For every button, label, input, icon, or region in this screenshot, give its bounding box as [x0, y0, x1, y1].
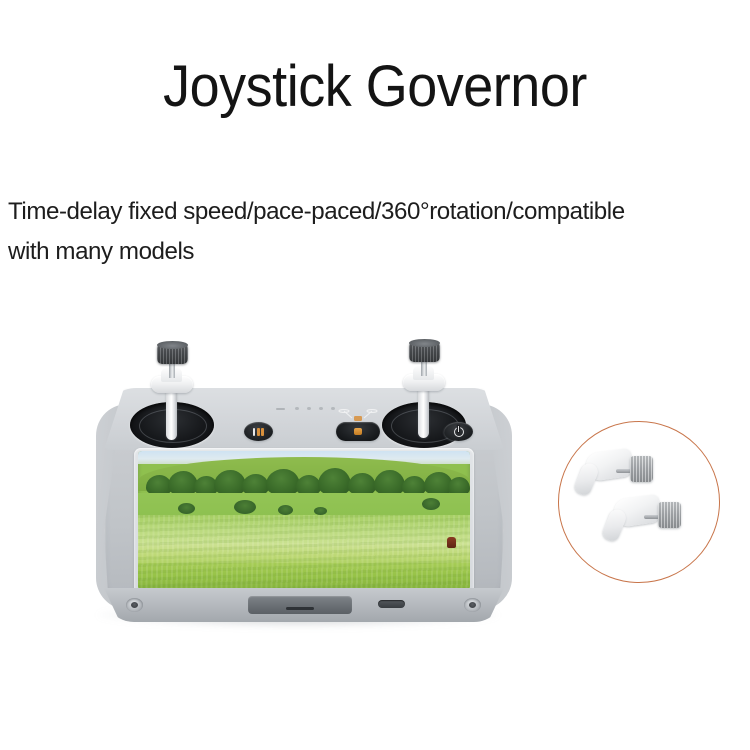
accessory-knurled-screw [658, 502, 681, 528]
controller-display[interactable] [138, 451, 470, 590]
display-shrub [278, 505, 293, 515]
led-dot-1 [295, 407, 299, 410]
display-shrub [178, 503, 195, 514]
knurled-knob-top [157, 341, 188, 349]
led-dot-4 [331, 407, 335, 410]
flight-pause-button[interactable] [244, 422, 273, 441]
accessory-mount-right [464, 598, 481, 612]
product-image-canvas: Joystick Governor Time-delay fixed speed… [0, 0, 750, 750]
knurled-knob-top [409, 339, 440, 347]
description-line-1: Time-delay fixed speed/pace-paced/360°ro… [8, 192, 739, 232]
display-shrub [314, 507, 327, 515]
pause-icon [252, 428, 265, 436]
joystick-governor-accessory [604, 491, 690, 553]
speaker-vent-panel [248, 596, 352, 614]
page-title: Joystick Governor [26, 56, 724, 118]
product-description: Time-delay fixed speed/pace-paced/360°ro… [8, 192, 739, 272]
led-dot-2 [307, 407, 311, 410]
led-dot-3 [319, 407, 323, 410]
accessory-detail-inset [558, 421, 720, 583]
display-grass-texture [138, 515, 470, 590]
joystick-assembly-left[interactable] [145, 342, 199, 438]
return-to-home-button[interactable] [336, 422, 380, 441]
drone-icon [338, 408, 378, 423]
accessory-knurled-screw [630, 456, 653, 482]
display-shrub [234, 500, 256, 514]
microsd-card-slot[interactable] [286, 607, 314, 610]
remote-controller-image [58, 330, 538, 660]
description-line-2: with many models [8, 232, 739, 272]
power-icon [454, 427, 464, 437]
display-shrub [422, 498, 440, 510]
accessory-mount-left [126, 598, 143, 612]
led-dash [276, 408, 285, 410]
battery-led-indicators [276, 406, 336, 412]
usb-c-port[interactable] [378, 600, 405, 608]
rth-indicator-icon [354, 428, 362, 435]
joystick-assembly-right[interactable] [397, 340, 451, 436]
display-cow [447, 537, 456, 548]
